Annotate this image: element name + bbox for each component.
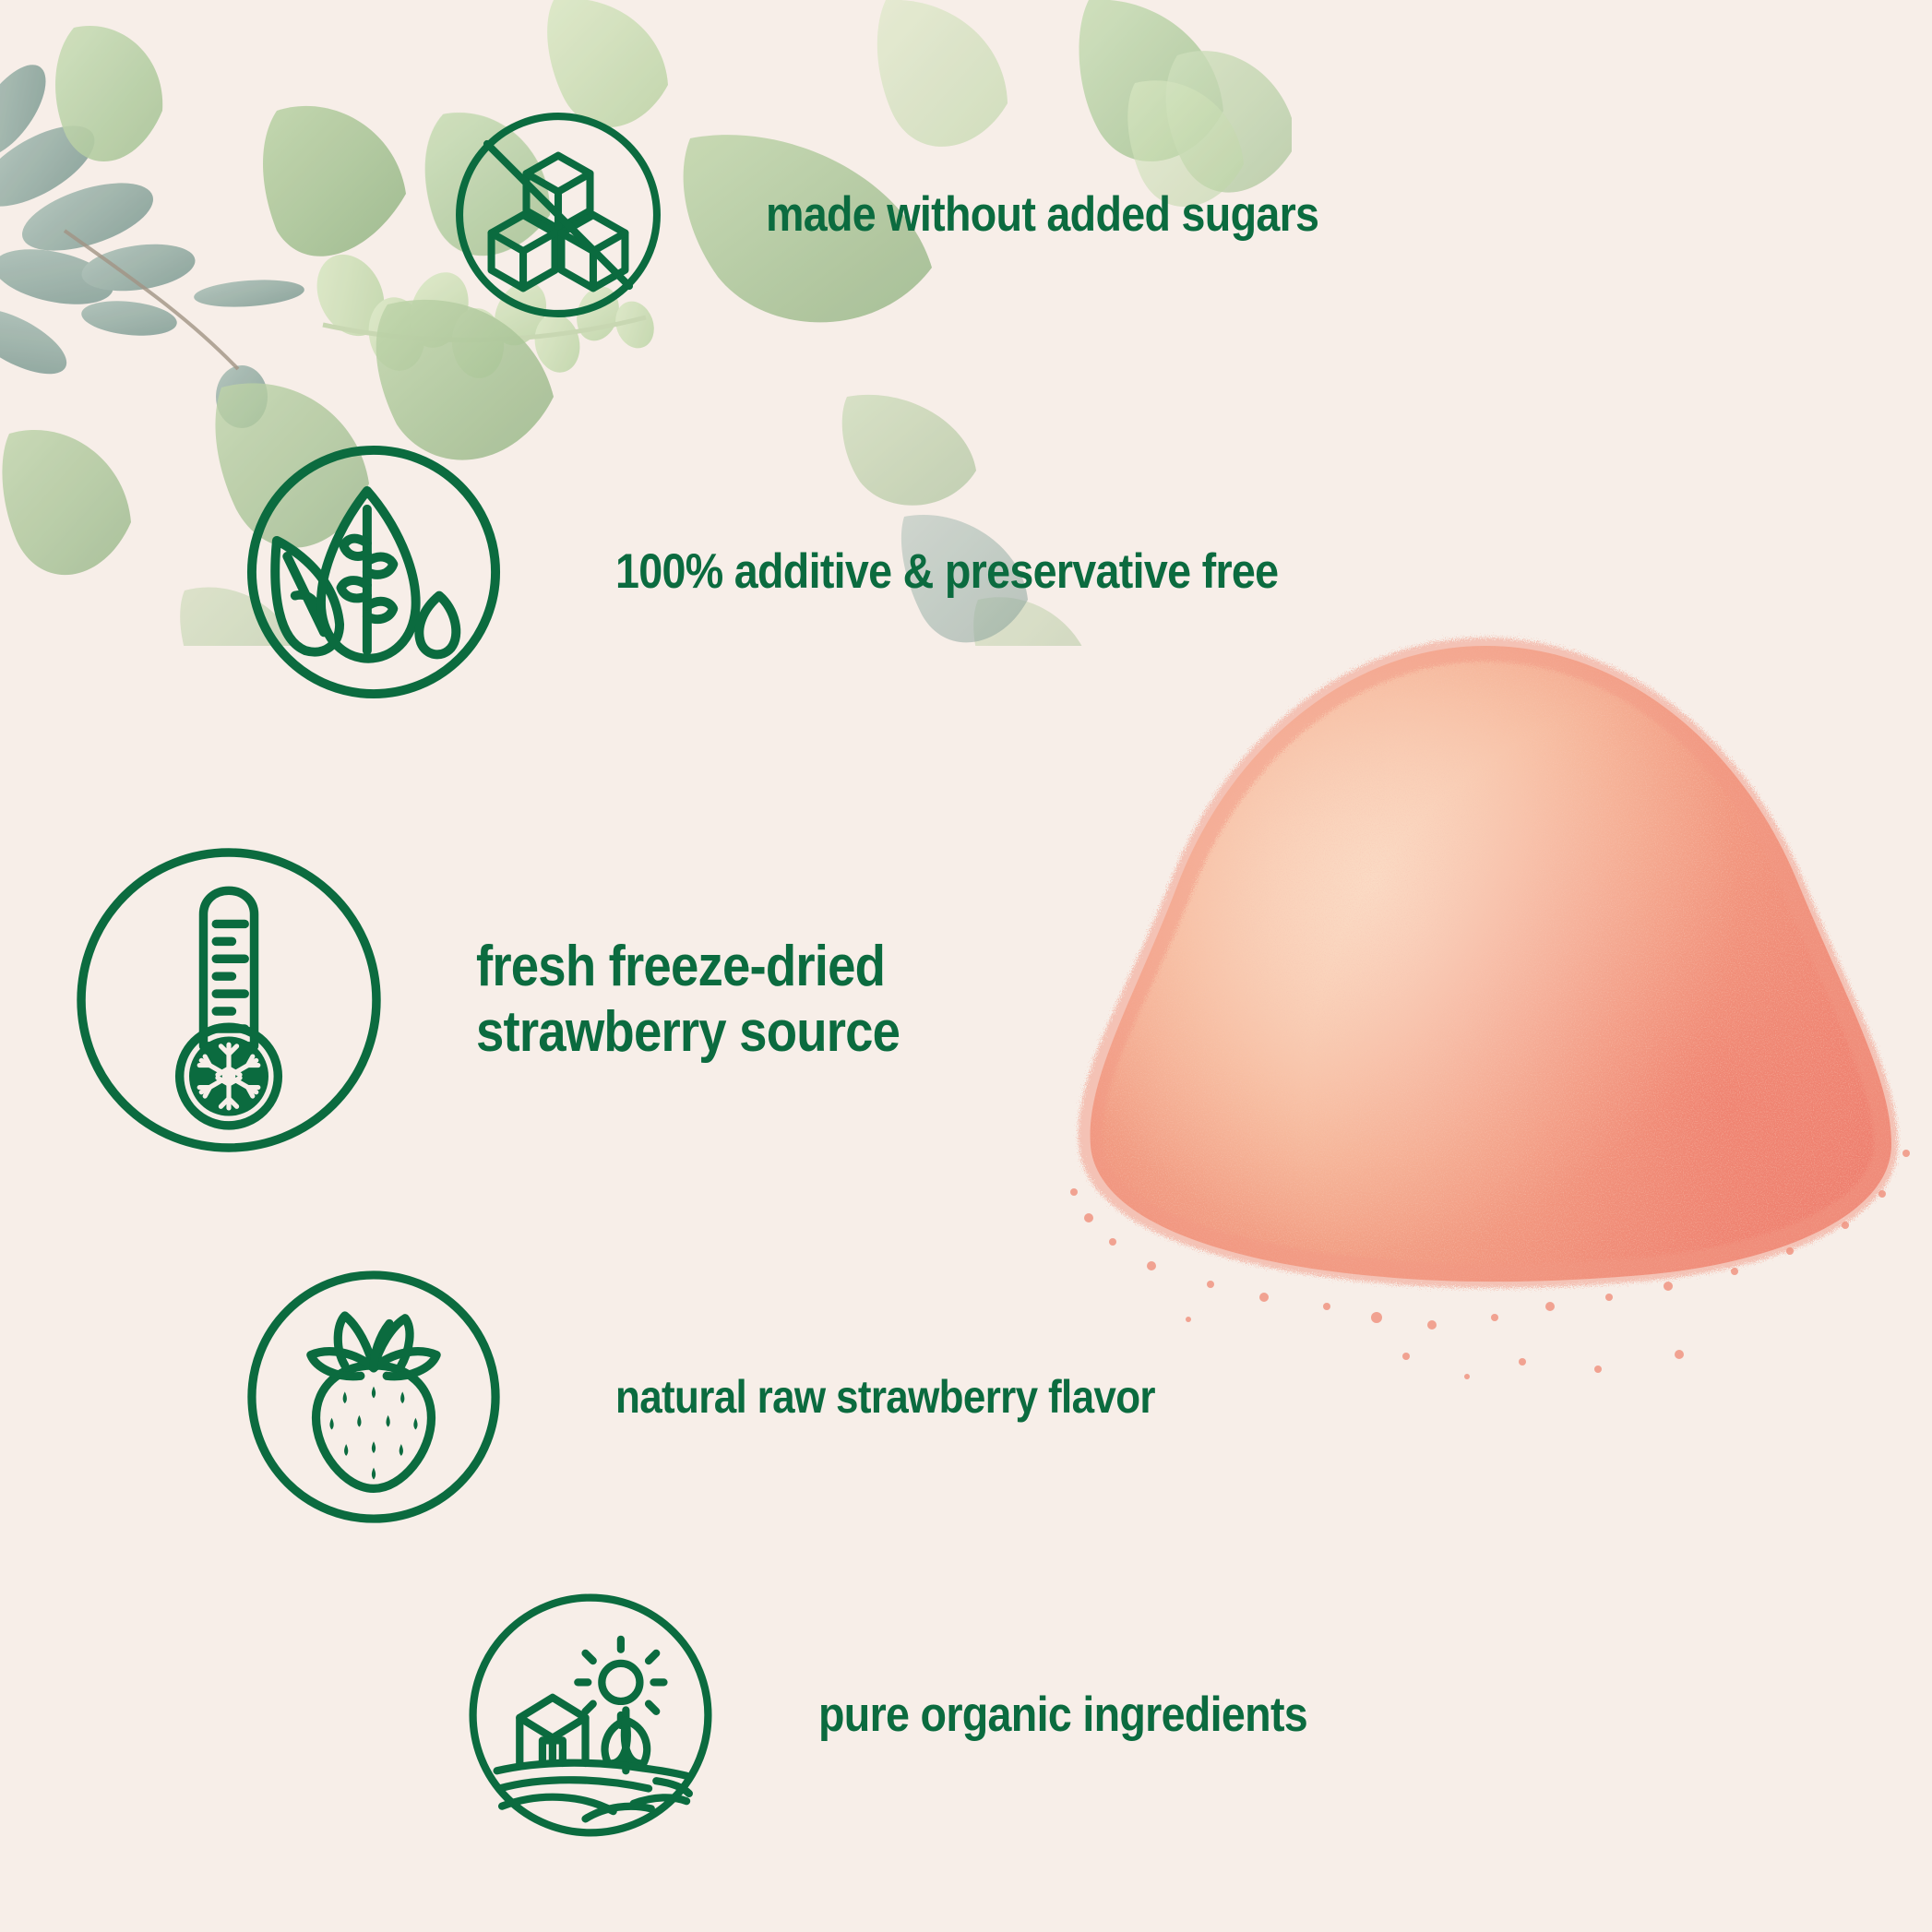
leaves-icon [243, 441, 505, 703]
feature-label-no-added-sugar: made without added sugars [766, 187, 1318, 243]
freeze-thermometer-icon [70, 841, 388, 1159]
feature-row-freeze-dried: fresh freeze-dried strawberry source [70, 841, 958, 1159]
strawberry-icon [243, 1266, 505, 1528]
feature-row-strawberry-flavor: natural raw strawberry flavor [243, 1266, 1229, 1528]
feature-label-strawberry-flavor: natural raw strawberry flavor [615, 1371, 1155, 1424]
feature-label-organic-ingredients: pure organic ingredients [818, 1688, 1307, 1743]
feature-label-additive-free: 100% additive & preservative free [615, 544, 1278, 600]
feature-row-organic-ingredients: pure organic ingredients [464, 1589, 1374, 1842]
no-added-sugar-icon [452, 109, 664, 321]
feature-row-no-added-sugar: made without added sugars [452, 109, 1394, 321]
organic-farm-icon [464, 1589, 717, 1842]
feature-label-freeze-dried: fresh freeze-dried strawberry source [476, 935, 900, 1065]
feature-row-additive-free: 100% additive & preservative free [243, 441, 1368, 703]
infographic-canvas: made without added sugars 100% addit [0, 0, 1932, 1932]
